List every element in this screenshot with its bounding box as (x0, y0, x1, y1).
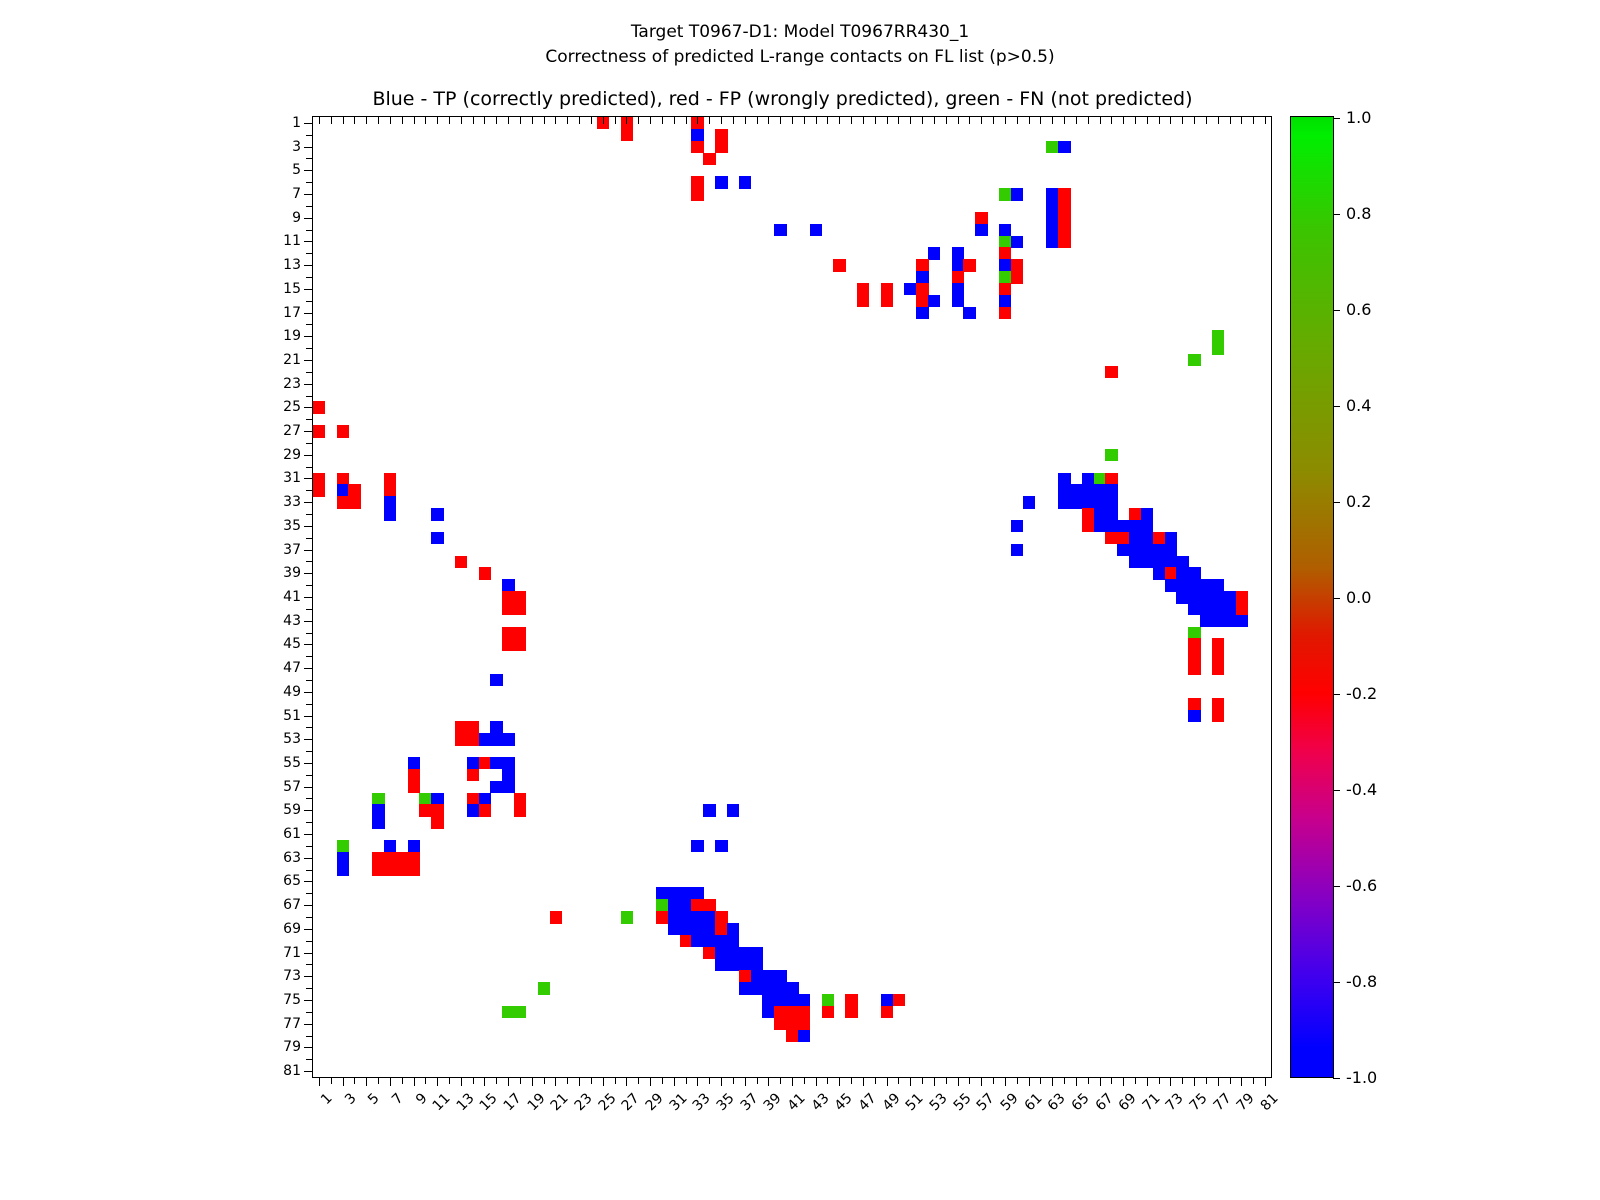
y-axis-label: 57 (283, 780, 301, 794)
contact-cell-tp (727, 923, 739, 935)
x-axis-label: 1 (319, 1091, 335, 1107)
x-axis-tick (1017, 1077, 1018, 1084)
contact-cell-fp (384, 473, 396, 485)
contact-cell-fp (431, 804, 443, 816)
x-axis-label: 79 (1235, 1091, 1258, 1114)
contact-cell-tp (680, 911, 692, 923)
contact-cell-fp (467, 721, 479, 733)
x-axis-tick (709, 1077, 710, 1084)
contact-cell-tp (952, 295, 964, 307)
y-axis-label: 49 (283, 685, 301, 699)
y-axis-tick (304, 810, 313, 811)
contact-cell-tp (691, 840, 703, 852)
contact-cell-tp (751, 970, 763, 982)
y-axis-label: 13 (283, 258, 301, 272)
contact-cell-fp (703, 947, 715, 959)
x-axis-label: 31 (667, 1091, 690, 1114)
x-axis-tick-top (1218, 117, 1219, 124)
colorbar-tick (1333, 694, 1340, 695)
contact-cell-tp (1200, 603, 1212, 615)
contact-cell-tp (656, 887, 668, 899)
contact-cell-tp (384, 496, 396, 508)
y-axis-label: 31 (283, 471, 301, 485)
contact-cell-fp (1011, 259, 1023, 271)
x-axis-tick-top (461, 117, 462, 124)
contact-cell-fp (786, 1006, 798, 1018)
contact-cell-tp (739, 982, 751, 994)
colorbar-tick-label: -0.6 (1346, 878, 1377, 894)
y-axis-tick (304, 1000, 313, 1001)
contact-cell-fp (1153, 532, 1165, 544)
contact-cell-fp (431, 816, 443, 828)
contact-cell-fp (467, 769, 479, 781)
y-axis-tick (306, 704, 313, 705)
x-axis-tick (508, 1077, 509, 1086)
contact-cell-fp (881, 1006, 893, 1018)
contact-cell-fp (715, 911, 727, 923)
contact-cell-tp (786, 994, 798, 1006)
y-axis-tick (306, 135, 313, 136)
y-axis-tick (306, 585, 313, 586)
contact-cell-fp (975, 212, 987, 224)
contact-cell-fp (881, 295, 893, 307)
contact-cell-fp (881, 283, 893, 295)
contact-cell-fp (963, 259, 975, 271)
contact-cell-fp (514, 793, 526, 805)
contact-cell-fp (1105, 473, 1117, 485)
contact-cell-fp (348, 496, 360, 508)
x-axis-label: 63 (1046, 1091, 1069, 1114)
x-axis-tick-top (449, 117, 450, 124)
contact-cell-tp (952, 259, 964, 271)
contact-cell-tp (1188, 603, 1200, 615)
x-axis-tick-top (484, 117, 485, 124)
x-axis-tick (473, 1077, 474, 1084)
contact-cell-tp (668, 887, 680, 899)
contact-cell-tp (715, 947, 727, 959)
colorbar-tick (1333, 790, 1340, 791)
contact-cell-tp (1141, 544, 1153, 556)
x-axis-tick (638, 1077, 639, 1084)
contact-cell-tp (739, 176, 751, 188)
contact-cell-tp (1046, 212, 1058, 224)
y-axis-tick (306, 443, 313, 444)
x-axis-tick-top (508, 117, 509, 124)
x-axis-tick (591, 1077, 592, 1084)
x-axis-tick (555, 1077, 556, 1086)
x-axis-label: 77 (1211, 1091, 1234, 1114)
y-axis-label: 15 (283, 282, 301, 296)
colorbar-tick (1333, 502, 1340, 503)
contact-cell-tp (999, 259, 1011, 271)
contact-cell-tp (1212, 603, 1224, 615)
x-axis-tick (851, 1077, 852, 1084)
contact-cell-fp (845, 994, 857, 1006)
contact-cell-fp (1082, 520, 1094, 532)
x-axis-tick (827, 1077, 828, 1084)
contact-cell-tp (431, 508, 443, 520)
x-axis-tick-top (567, 117, 568, 124)
contact-cell-tp (715, 176, 727, 188)
contact-cell-tp (1105, 508, 1117, 520)
contact-cell-fp (372, 864, 384, 876)
x-axis-tick-top (1100, 117, 1101, 124)
x-axis-tick-top (378, 117, 379, 124)
y-axis-tick (306, 467, 313, 468)
contact-cell-tp (952, 283, 964, 295)
contact-cell-fp (1105, 366, 1117, 378)
y-axis-tick (306, 419, 313, 420)
y-axis-label: 25 (283, 400, 301, 414)
colorbar-tick-label: 0.0 (1346, 590, 1371, 606)
x-axis-tick (1040, 1077, 1041, 1084)
contact-cell-tp (1046, 200, 1058, 212)
contact-cell-fp (384, 852, 396, 864)
y-axis-tick (304, 905, 313, 906)
x-axis-tick (1029, 1077, 1030, 1086)
contact-cell-fp (514, 603, 526, 615)
contact-cell-tp (1212, 615, 1224, 627)
contact-cell-fp (502, 638, 514, 650)
figure-root: Target T0967-D1: Model T0967RR430_1 Corr… (0, 0, 1600, 1200)
contact-cell-tp (1153, 567, 1165, 579)
contact-cell-tp (384, 508, 396, 520)
contact-cell-fp (703, 899, 715, 911)
y-axis-tick (306, 609, 313, 610)
contact-cell-fp (479, 567, 491, 579)
title-line-2: Correctness of predicted L-range contact… (0, 45, 1600, 70)
y-axis-label: 33 (283, 495, 301, 509)
contact-cell-fn (419, 793, 431, 805)
x-axis-tick (1064, 1077, 1065, 1084)
x-axis-tick-top (520, 117, 521, 124)
contact-cell-tp (928, 247, 940, 259)
y-axis-label: 37 (283, 543, 301, 557)
x-axis-tick (496, 1077, 497, 1084)
contact-cell-tp (751, 982, 763, 994)
x-axis-tick-top (898, 117, 899, 124)
contact-cell-fp (396, 852, 408, 864)
x-axis-label: 81 (1258, 1091, 1281, 1114)
contact-cell-tp (762, 982, 774, 994)
y-axis-label: 59 (283, 803, 301, 817)
contact-cell-fp (502, 627, 514, 639)
contact-cell-tp (372, 804, 384, 816)
contact-cell-tp (490, 733, 502, 745)
y-axis-tick (306, 1059, 313, 1060)
contact-cell-tp (668, 899, 680, 911)
contact-cell-tp (1224, 603, 1236, 615)
contact-cell-tp (1058, 484, 1070, 496)
x-axis-tick-top (343, 117, 344, 124)
contact-cell-tp (479, 793, 491, 805)
y-axis-tick (306, 775, 313, 776)
x-axis-tick (898, 1077, 899, 1084)
contact-cell-tp (762, 1006, 774, 1018)
contact-cell-tp (1046, 224, 1058, 236)
y-axis-label: 63 (283, 851, 301, 865)
x-axis-tick-top (626, 117, 627, 124)
x-axis-label: 19 (525, 1091, 548, 1114)
x-axis-tick-top (1052, 117, 1053, 124)
y-axis-tick (304, 763, 313, 764)
y-axis-tick (306, 372, 313, 373)
y-axis-label: 71 (283, 946, 301, 960)
contact-cell-tp (1129, 520, 1141, 532)
contact-cell-fp (313, 473, 325, 485)
y-axis-label: 53 (283, 732, 301, 746)
contact-cell-fp (514, 627, 526, 639)
contact-cell-fp (1188, 698, 1200, 710)
contact-cell-fp (999, 307, 1011, 319)
y-axis-tick (304, 241, 313, 242)
x-axis-tick-top (1265, 117, 1266, 124)
x-axis-tick-top (863, 117, 864, 124)
x-axis-tick-top (437, 117, 438, 124)
x-axis-tick-top (1230, 117, 1231, 124)
x-axis-tick (697, 1077, 698, 1086)
y-axis-tick (304, 526, 313, 527)
colorbar-tick (1333, 406, 1340, 407)
contact-cell-tp (928, 295, 940, 307)
colorbar-tick-label: -1.0 (1346, 1070, 1377, 1086)
contact-cell-fp (833, 259, 845, 271)
contact-cell-fp (455, 733, 467, 745)
x-axis-label: 49 (880, 1091, 903, 1114)
contact-cell-tp (762, 994, 774, 1006)
y-axis-label: 1 (292, 116, 301, 130)
x-axis-tick (437, 1077, 438, 1086)
x-axis-tick-top (638, 117, 639, 124)
y-axis-tick (306, 182, 313, 183)
contact-cell-tp (1141, 508, 1153, 520)
x-axis-tick (922, 1077, 923, 1084)
contact-cell-tp (502, 757, 514, 769)
x-axis-tick-top (674, 117, 675, 124)
y-axis-label: 75 (283, 993, 301, 1007)
contact-cell-fp (999, 247, 1011, 259)
contact-cell-fp (916, 295, 928, 307)
y-axis-tick (306, 727, 313, 728)
y-axis-tick (304, 265, 313, 266)
x-axis-tick (1005, 1077, 1006, 1086)
y-axis-tick (304, 1047, 313, 1048)
y-axis-tick (306, 514, 313, 515)
contact-cell-fn (1212, 330, 1224, 342)
contact-cell-fp (1058, 188, 1070, 200)
x-axis-tick (757, 1077, 758, 1084)
contact-cell-tp (691, 935, 703, 947)
contact-cell-tp (1094, 508, 1106, 520)
contact-cell-fp (656, 911, 668, 923)
x-axis-label: 75 (1188, 1091, 1211, 1114)
x-axis-tick-top (1241, 117, 1242, 124)
x-axis-tick (780, 1077, 781, 1084)
y-axis-tick (306, 253, 313, 254)
contact-cell-tp (739, 947, 751, 959)
contact-cell-fp (1212, 650, 1224, 662)
contact-cell-tp (337, 484, 349, 496)
y-axis-label: 9 (292, 211, 301, 225)
x-axis-tick (1170, 1077, 1171, 1086)
x-axis-label: 73 (1164, 1091, 1187, 1114)
contact-cell-tp (1082, 496, 1094, 508)
x-axis-tick (1123, 1077, 1124, 1086)
colorbar-tick-label: 0.8 (1346, 206, 1371, 222)
contact-cell-fp (952, 271, 964, 283)
y-axis-tick (304, 218, 313, 219)
colorbar-ticks: 1.00.80.60.40.20.0-0.2-0.4-0.6-0.8-1.0 (1290, 116, 1334, 1078)
contact-cell-tp (1011, 520, 1023, 532)
y-axis-tick (306, 348, 313, 349)
contact-cell-tp (703, 911, 715, 923)
contact-cell-fp (1212, 698, 1224, 710)
x-axis-tick (863, 1077, 864, 1086)
contact-cell-tp (668, 923, 680, 935)
contact-cell-fp (384, 864, 396, 876)
y-axis-label: 7 (292, 187, 301, 201)
y-axis-tick (304, 597, 313, 598)
contact-cell-tp (751, 947, 763, 959)
contact-cell-tp (1188, 579, 1200, 591)
contact-cell-fp (372, 852, 384, 864)
contact-cell-tp (1129, 532, 1141, 544)
contact-cell-tp (1141, 520, 1153, 532)
y-axis-tick (304, 123, 313, 124)
x-axis-tick (650, 1077, 651, 1086)
contact-cell-fn (1212, 342, 1224, 354)
x-axis-tick-top (473, 117, 474, 124)
x-axis-tick (1052, 1077, 1053, 1086)
x-axis-tick-top (887, 117, 888, 124)
contact-cell-tp (691, 887, 703, 899)
x-axis-tick-top (804, 117, 805, 124)
colorbar-tick-label: 0.6 (1346, 302, 1371, 318)
contact-cell-tp (1200, 591, 1212, 603)
y-axis-tick (304, 716, 313, 717)
x-axis-tick-top (1017, 117, 1018, 124)
contact-cell-fp (916, 283, 928, 295)
y-axis-tick (304, 1024, 313, 1025)
colorbar-tick (1333, 214, 1340, 215)
contact-cell-fp (384, 484, 396, 496)
y-axis-tick (304, 929, 313, 930)
y-axis-label: 77 (283, 1017, 301, 1031)
contact-cell-tp (1046, 188, 1058, 200)
contact-cell-fp (1129, 508, 1141, 520)
x-axis-tick-top (686, 117, 687, 124)
x-axis-tick-top (1194, 117, 1195, 124)
x-axis-tick-top (555, 117, 556, 124)
contact-cell-tp (502, 733, 514, 745)
contact-cell-tp (431, 532, 443, 544)
contact-cell-fp (1188, 662, 1200, 674)
x-axis-tick-top (1005, 117, 1006, 124)
contact-cell-fp (408, 852, 420, 864)
y-axis-tick (304, 478, 313, 479)
contact-cell-tp (727, 804, 739, 816)
x-axis-tick (993, 1077, 994, 1084)
contact-cell-fp (408, 864, 420, 876)
contact-cell-tp (916, 271, 928, 283)
y-axis-tick (306, 230, 313, 231)
legend-description: Blue - TP (correctly predicted), red - F… (0, 88, 1565, 110)
x-axis-tick-top (414, 117, 415, 124)
contact-map-plot[interactable]: 1133557799111113131515171719192121232325… (312, 116, 1272, 1078)
y-axis-tick (306, 1036, 313, 1037)
contact-cell-tp (1188, 710, 1200, 722)
contact-cell-fn (337, 840, 349, 852)
x-axis-tick-top (934, 117, 935, 124)
contact-cell-tp (490, 674, 502, 686)
x-axis-tick-top (1206, 117, 1207, 124)
y-axis-tick (306, 870, 313, 871)
y-axis-tick (304, 550, 313, 551)
y-axis-tick (306, 798, 313, 799)
x-axis-tick-top (1076, 117, 1077, 124)
contact-cell-fn (999, 188, 1011, 200)
x-axis-tick (425, 1077, 426, 1084)
contact-cell-tp (1105, 496, 1117, 508)
x-axis-label: 59 (998, 1091, 1021, 1114)
contact-cell-fp (337, 496, 349, 508)
x-axis-tick-top (1040, 117, 1041, 124)
x-axis-tick (1253, 1077, 1254, 1084)
contact-cell-fp (479, 757, 491, 769)
contact-cell-fp (408, 781, 420, 793)
y-axis-label: 73 (283, 969, 301, 983)
contact-cell-tp (703, 804, 715, 816)
x-axis-tick-top (851, 117, 852, 124)
contact-cell-fp (1212, 662, 1224, 674)
contact-cell-tp (1200, 579, 1212, 591)
contact-cell-fp (857, 295, 869, 307)
y-axis-label: 29 (283, 448, 301, 462)
x-axis-label: 47 (856, 1091, 879, 1114)
x-axis-tick-top (1064, 117, 1065, 124)
x-axis-tick (343, 1077, 344, 1086)
contact-cell-tp (715, 935, 727, 947)
y-axis-tick (304, 384, 313, 385)
contact-cell-tp (727, 935, 739, 947)
contact-cell-tp (431, 793, 443, 805)
x-axis-tick-top (425, 117, 426, 124)
y-axis-tick (304, 644, 313, 645)
x-axis-tick-top (839, 117, 840, 124)
x-axis-label: 27 (620, 1091, 643, 1114)
contact-cell-tp (680, 899, 692, 911)
contact-cell-fn (999, 271, 1011, 283)
contact-cell-tp (952, 247, 964, 259)
x-axis-tick (366, 1077, 367, 1086)
x-axis-label: 35 (714, 1091, 737, 1114)
x-axis-tick-top (993, 117, 994, 124)
x-axis-tick-top (390, 117, 391, 124)
y-axis-tick (306, 396, 313, 397)
x-axis-tick (567, 1077, 568, 1084)
y-axis-tick (306, 964, 313, 965)
x-axis-tick (461, 1077, 462, 1086)
x-axis-tick-top (745, 117, 746, 124)
contact-cell-tp (1082, 473, 1094, 485)
x-axis-tick-top (1088, 117, 1089, 124)
contact-cell-tp (691, 923, 703, 935)
contact-cell-tp (1212, 579, 1224, 591)
x-axis-tick (1147, 1077, 1148, 1086)
y-axis-label: 35 (283, 519, 301, 533)
contact-cell-fp (1058, 224, 1070, 236)
x-axis-tick (1241, 1077, 1242, 1086)
